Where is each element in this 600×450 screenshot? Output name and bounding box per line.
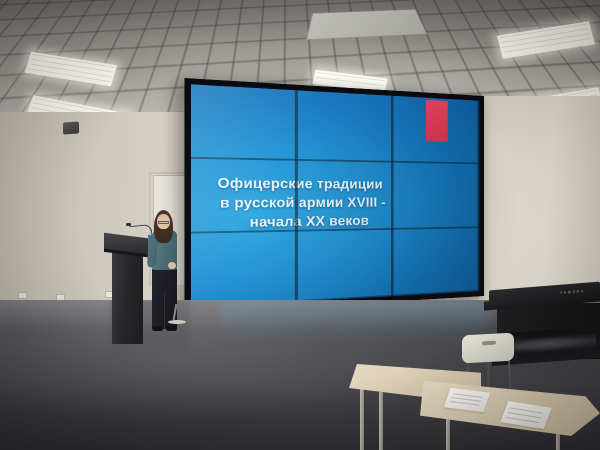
wall-outlet-1[interactable] [18,292,27,299]
presenter-shoe-right [166,326,177,331]
chair-handle-slot-icon [482,341,496,345]
microphone-head-icon [126,223,131,226]
table-leg-1 [360,386,364,450]
presenter-shoe-left [152,326,163,331]
video-wall-glare [191,84,479,307]
folding-chair-backrest[interactable] [462,333,514,364]
lecture-hall-photo: Офицерские традиции в русской армии XVII… [0,0,600,450]
presenter-hand [168,262,176,269]
video-wall-screen[interactable]: Офицерские традиции в русской армии XVII… [191,84,479,307]
video-wall-bezel: Офицерские традиции в русской армии XVII… [184,78,484,314]
microphone-stand [168,316,186,324]
presenter-leg-seam [164,292,165,329]
table-leg-2 [379,392,383,450]
video-wall[interactable]: Офицерские традиции в русской армии XVII… [184,78,484,314]
lectern-body [112,246,143,344]
wall-speaker-icon [63,121,79,134]
presenter-glasses-icon [158,221,169,224]
